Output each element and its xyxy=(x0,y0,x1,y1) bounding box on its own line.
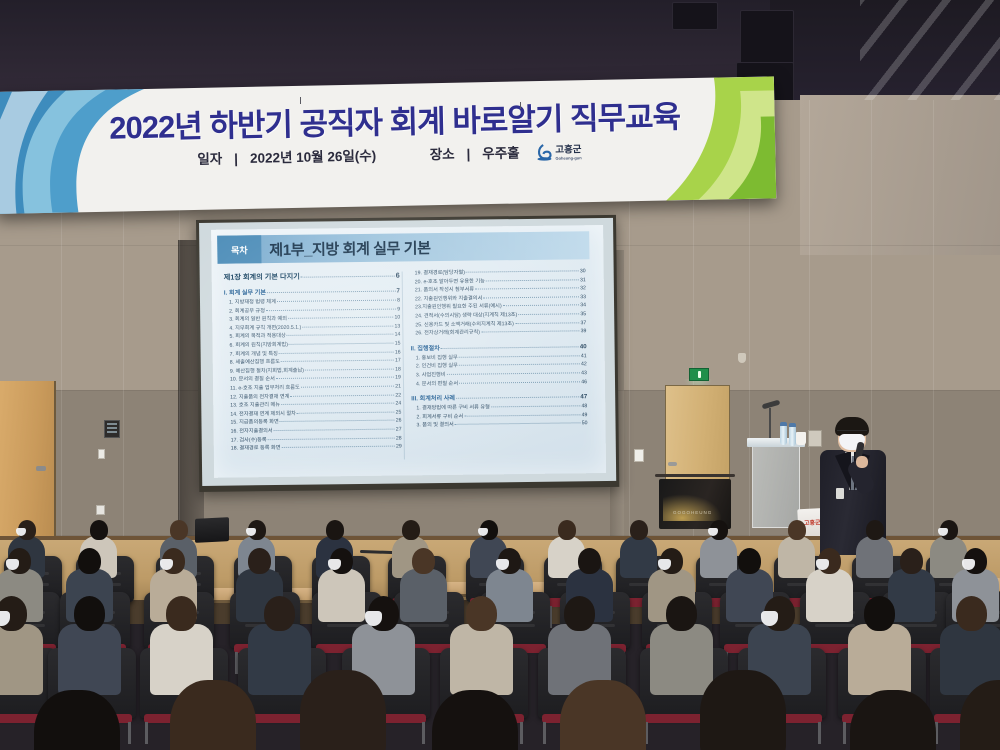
audience-member-head xyxy=(866,520,884,540)
audience-member-head xyxy=(864,596,895,631)
conference-room-photo: 2022년 하반기 공직자 회계 바로알기 직무교육 일자|2022년 10월 … xyxy=(0,0,1000,750)
audience-member xyxy=(248,596,311,702)
audience-member-head xyxy=(900,548,923,574)
chair-leg xyxy=(843,722,846,744)
audience-member-head xyxy=(326,520,344,540)
audience-member-head xyxy=(90,520,108,540)
audience-member xyxy=(806,548,853,627)
audience-member-torso xyxy=(248,624,311,695)
audience-member-torso xyxy=(650,624,713,695)
audience-member-torso xyxy=(806,569,853,622)
chair-leg xyxy=(520,722,523,744)
chair-leg xyxy=(422,722,425,744)
audience-member-head xyxy=(564,596,595,631)
audience-member-head xyxy=(466,596,497,631)
audience-member-head xyxy=(74,596,105,631)
audience-member-head xyxy=(248,548,271,574)
audience-member-head xyxy=(956,596,987,631)
audience-member-head xyxy=(170,520,188,540)
audience-member-head xyxy=(558,520,576,540)
audience-member-head xyxy=(78,548,101,574)
audience-member-foreground xyxy=(560,680,646,750)
audience-member xyxy=(58,596,121,702)
audience-member-torso xyxy=(0,624,43,695)
audience-member-head xyxy=(666,596,697,631)
chair-leg xyxy=(128,722,131,744)
audience-member-head xyxy=(578,548,601,574)
audience-member-foreground xyxy=(300,670,386,750)
audience-member-head xyxy=(412,548,435,574)
audience-member-torso xyxy=(848,624,911,695)
audience-member xyxy=(0,596,43,702)
audience-member xyxy=(650,596,713,702)
audience-member-foreground xyxy=(700,670,786,750)
audience-member-head xyxy=(630,520,648,540)
audience-member-head xyxy=(166,596,197,631)
audience xyxy=(0,0,1000,750)
audience-member-head xyxy=(264,596,295,631)
audience-member-torso xyxy=(58,624,121,695)
chair-leg xyxy=(145,722,148,744)
audience-member-torso xyxy=(450,624,513,695)
audience-member-head xyxy=(402,520,420,540)
chair-leg xyxy=(543,722,546,744)
audience-member xyxy=(450,596,513,702)
audience-member-head xyxy=(738,548,761,574)
audience-member xyxy=(848,596,911,702)
audience-member-head xyxy=(788,520,806,540)
audience-member-foreground xyxy=(170,680,256,750)
chair-leg xyxy=(818,722,821,744)
